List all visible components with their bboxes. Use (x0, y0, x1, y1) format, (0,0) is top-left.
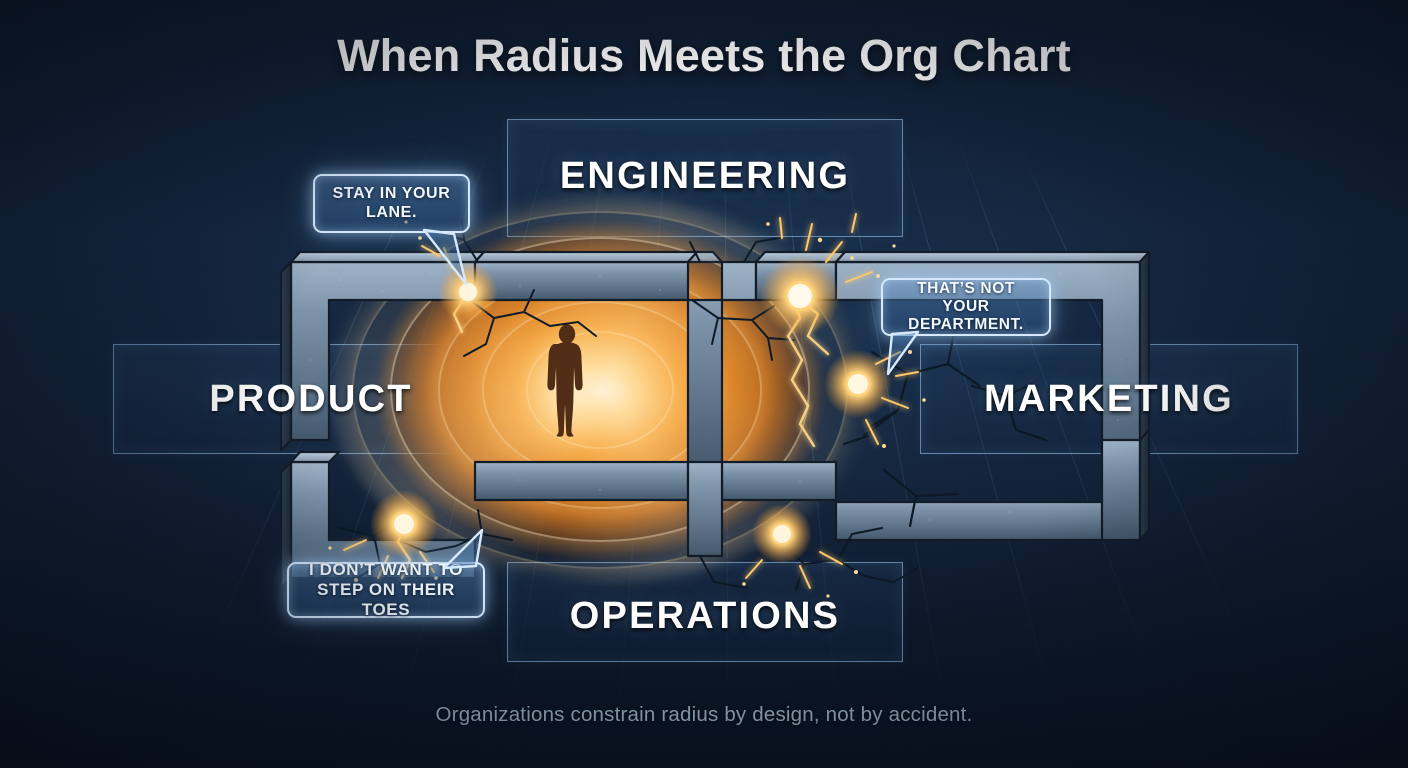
speech-bubble-stay-in-your-lane[interactable]: STAY IN YOUR LANE. (313, 174, 470, 233)
dept-label-engineering: ENGINEERING (507, 155, 903, 198)
speech-bubble-tail (884, 330, 934, 378)
page-caption: Organizations constrain radius by design… (0, 703, 1408, 727)
bubble-line-2: LANE. (366, 204, 417, 221)
speech-bubble-tail (420, 228, 480, 290)
bubble-line-1: STAY IN YOUR (333, 185, 451, 202)
dept-label-marketing: MARKETING (920, 378, 1298, 421)
page-title: When Radius Meets the Org Chart (0, 30, 1408, 82)
speech-bubble-tail (436, 528, 488, 570)
person-silhouette (545, 322, 589, 448)
dept-label-product: PRODUCT (113, 378, 509, 421)
bubble-line-2: STEP ON THEIR TOES (317, 580, 455, 619)
speech-bubble-not-your-department[interactable]: THAT’S NOT YOUR DEPARTMENT. (881, 278, 1051, 336)
bubble-line-1: THAT’S NOT YOUR (917, 280, 1015, 315)
dept-label-operations: OPERATIONS (507, 595, 903, 638)
speech-bubble-step-on-toes[interactable]: I DON’T WANT TO STEP ON THEIR TOES (287, 562, 485, 618)
infographic-canvas: ENGINEERING PRODUCT MARKETING OPERATIONS… (0, 0, 1408, 768)
